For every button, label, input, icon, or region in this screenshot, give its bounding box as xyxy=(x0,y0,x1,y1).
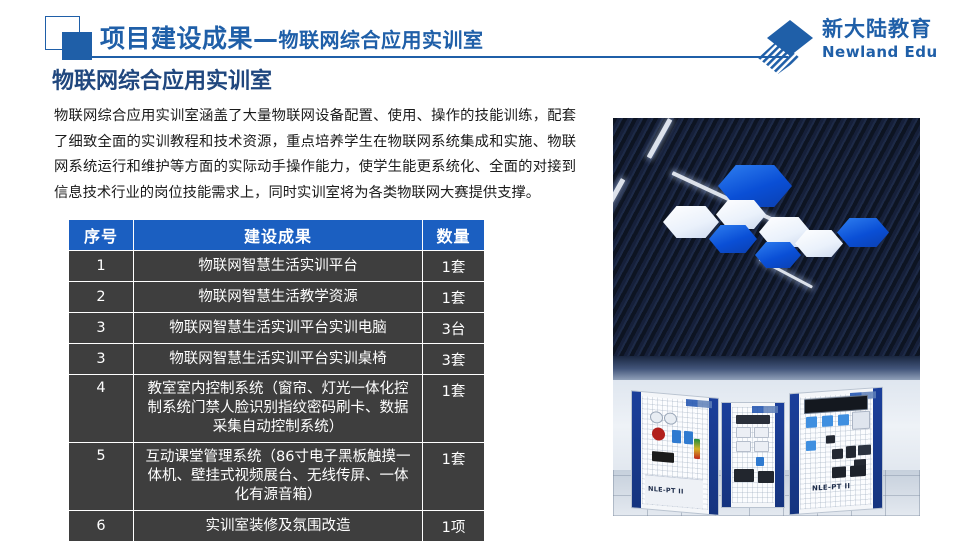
cell-item: 物联网智慧生活实训平台实训桌椅 xyxy=(134,344,423,375)
page-title: 项目建设成果—物联网综合应用实训室 xyxy=(100,19,484,55)
column-header-no: 序号 xyxy=(69,220,134,251)
brand-name-en: Newland Edu xyxy=(822,42,946,62)
page-title-dash: — xyxy=(253,24,279,53)
cell-no: 3 xyxy=(69,344,134,375)
cell-qty: 1套 xyxy=(423,443,485,511)
table-row: 3 物联网智慧生活实训平台实训桌椅 3套 xyxy=(69,344,485,375)
construction-results-table: 序号 建设成果 数量 1 物联网智慧生活实训平台 1套 2 物联网智慧生活教学资… xyxy=(68,219,485,542)
cell-item: 教室室内控制系统（窗帘、灯光一体化控制系统门禁人脸识别指纹密码刷卡、数据采集自动… xyxy=(134,375,423,443)
cell-no: 1 xyxy=(69,251,134,282)
cell-no: 2 xyxy=(69,282,134,313)
cell-qty: 3台 xyxy=(423,313,485,344)
cell-item: 物联网智慧生活实训平台实训电脑 xyxy=(134,313,423,344)
training-rack-right: NLE-PT II xyxy=(789,387,883,516)
newland-diamond-logo-icon xyxy=(756,18,818,74)
training-rack-center xyxy=(721,402,785,508)
page-title-sub: 物联网综合应用实训室 xyxy=(279,28,484,52)
training-rack-left: NLE-PT II xyxy=(631,390,719,516)
cell-qty: 1套 xyxy=(423,251,485,282)
page-title-main: 项目建设成果 xyxy=(100,24,253,53)
column-header-qty: 数量 xyxy=(423,220,485,251)
cell-qty: 1套 xyxy=(423,282,485,313)
cell-item: 互动课堂管理系统（86寸电子黑板触摸一体机、壁挂式视频展台、无线传屏、一体化有源… xyxy=(134,443,423,511)
table-row: 2 物联网智慧生活教学资源 1套 xyxy=(69,282,485,313)
cell-qty: 1套 xyxy=(423,375,485,443)
table-row: 1 物联网智慧生活实训平台 1套 xyxy=(69,251,485,282)
cell-qty: 3套 xyxy=(423,344,485,375)
cell-item: 物联网智慧生活教学资源 xyxy=(134,282,423,313)
hex-lamp-white xyxy=(795,230,843,257)
brand-logo-text: 新大陆教育 Newland Edu xyxy=(822,16,946,62)
section-title: 物联网综合应用实训室 xyxy=(52,63,272,95)
header-divider-rule xyxy=(88,56,788,58)
section-description: 物联网综合应用实训室涵盖了大量物联网设备配置、使用、操作的技能训练，配套了细致全… xyxy=(54,104,576,206)
table-header-row: 序号 建设成果 数量 xyxy=(69,220,485,251)
cell-no: 3 xyxy=(69,313,134,344)
lab-photo: NLE-PT II xyxy=(613,118,920,516)
table-row: 4 教室室内控制系统（窗帘、灯光一体化控制系统门禁人脸识别指纹密码刷卡、数据采集… xyxy=(69,375,485,443)
hex-lamp-blue xyxy=(709,225,757,253)
column-header-item: 建设成果 xyxy=(134,220,423,251)
table-row: 3 物联网智慧生活实训平台实训电脑 3台 xyxy=(69,313,485,344)
cell-no: 5 xyxy=(69,443,134,511)
cell-item: 物联网智慧生活实训平台 xyxy=(134,251,423,282)
slide-root: 项目建设成果—物联网综合应用实训室 新大陆教育 Newland Edu 物联网综… xyxy=(0,0,956,537)
cell-no: 4 xyxy=(69,375,134,443)
brand-name-cn: 新大陆教育 xyxy=(822,16,946,42)
table-body: 1 物联网智慧生活实训平台 1套 2 物联网智慧生活教学资源 1套 3 物联网智… xyxy=(69,251,485,542)
hex-lamp-blue xyxy=(837,218,889,247)
brand-logo: 新大陆教育 Newland Edu xyxy=(756,16,946,76)
table-row: 5 互动课堂管理系统（86寸电子黑板触摸一体机、壁挂式视频展台、无线传屏、一体化… xyxy=(69,443,485,511)
